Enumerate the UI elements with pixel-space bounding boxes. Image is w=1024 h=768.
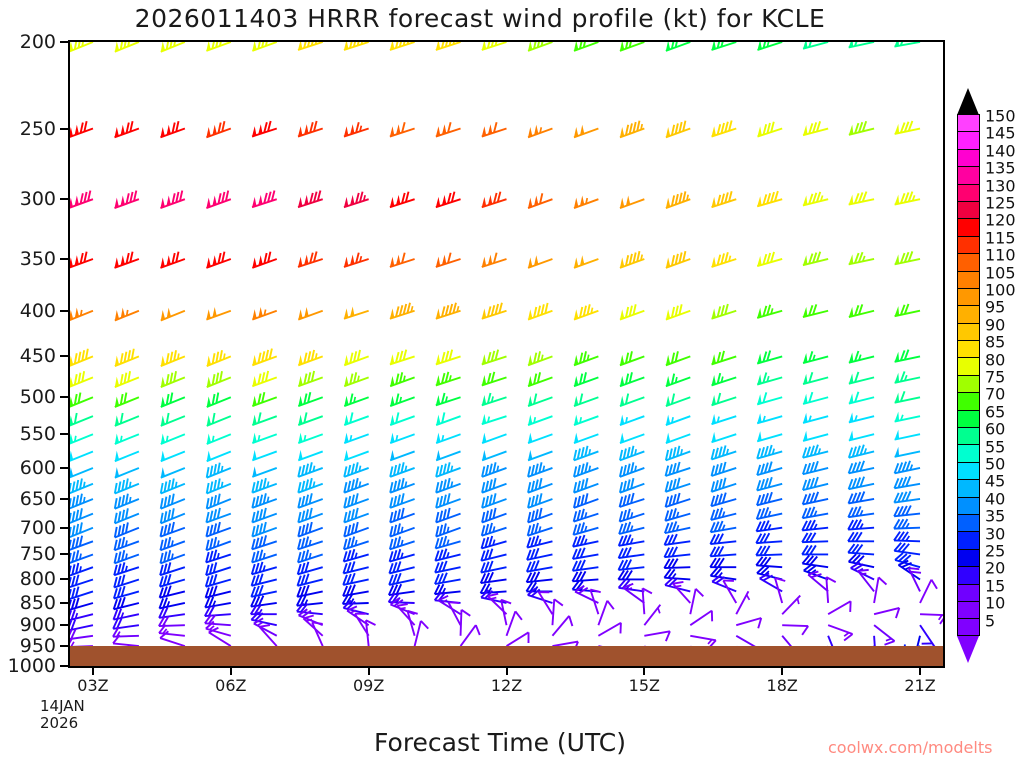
wind-barb [849,412,874,422]
wind-barb [782,596,800,615]
wind-barb [848,544,874,554]
wind-barb [528,394,552,407]
wind-barb [206,562,231,575]
wind-barb [666,415,690,425]
wind-barb [298,371,322,386]
wind-barb [673,582,690,603]
wind-barb [114,121,138,137]
wind-barb [70,308,93,321]
wind-barb [298,493,322,508]
wind-barb [70,598,93,610]
wind-barb [251,596,277,607]
wind-barb [298,508,322,523]
colorbar-tick-label: 140 [985,141,1016,160]
wind-barb [390,253,415,267]
wind-barb [70,629,93,639]
wind-barb [803,461,828,474]
wind-barb [572,571,598,581]
wind-barb [161,42,185,52]
wind-barb [114,586,139,598]
pressure-tick-label: 400 [20,300,56,322]
wind-barb [894,532,920,542]
wind-barb [252,307,276,320]
wind-barb [252,574,277,586]
wind-barb [252,349,276,366]
wind-barb [390,394,414,407]
wind-barb [598,601,613,625]
wind-barb [252,493,276,508]
wind-profile-plot [68,40,945,668]
wind-barb [252,371,276,386]
wind-barb [803,413,828,423]
wind-barb [436,433,460,443]
colorbar-tick-label: 20 [985,559,1005,578]
wind-barb [251,585,276,597]
wind-barb [390,372,414,386]
wind-barb [160,550,184,563]
wind-barb [161,494,185,509]
colorbar-cell [957,218,980,235]
colorbar-tick-label: 90 [985,315,1005,334]
wind-barb [461,625,480,646]
wind-barb [415,621,429,646]
wind-barb [849,445,874,458]
wind-barb [482,450,506,460]
wind-barb [620,304,644,319]
wind-barb [618,559,644,569]
wind-barb [251,605,277,614]
wind-barb [70,563,93,576]
wind-barb [344,478,368,493]
wind-barb [70,587,93,600]
wind-barb [757,507,782,519]
wind-barb [849,121,874,135]
wind-barb [803,192,828,206]
wind-barb [70,575,93,588]
wind-barb [390,433,414,443]
wind-barb [482,253,507,267]
wind-barb [114,575,139,588]
wind-barb [894,519,920,528]
colorbar-cell [957,427,980,444]
wind-barb [114,252,138,268]
wind-barb [528,523,553,536]
wind-barb [552,616,572,636]
wind-barb [528,303,552,320]
wind-barb [461,610,471,636]
wind-barb [298,450,322,460]
wind-barb [507,632,529,646]
wind-barb [528,478,552,493]
wind-barb [252,121,277,137]
wind-barb [344,493,368,508]
wind-barb [848,492,874,504]
wind-barb [114,550,138,563]
wind-barb [482,393,507,405]
pressure-tick-label: 850 [20,592,56,614]
time-tick-label: 12Z [491,676,522,695]
pressure-tick-label: 200 [20,31,56,53]
wind-barb [802,520,828,530]
wind-barb [666,493,691,507]
colorbar-tick-label: 150 [985,107,1016,126]
wind-barb [710,534,736,544]
colorbar-cell [957,288,980,305]
pressure-tick-mark [60,433,68,435]
wind-barb [482,414,507,424]
wind-barb [70,413,93,426]
wind-barb [390,523,414,536]
wind-barb [298,412,322,425]
time-tick-label: 09Z [353,676,384,695]
wind-barb [115,371,139,387]
wind-barb [435,549,460,561]
wind-barb [574,125,598,138]
wind-barb [206,537,230,550]
wind-barb [849,304,874,317]
wind-barb [159,598,184,609]
colorbar-cell [957,479,980,496]
wind-barb [895,304,920,316]
wind-barb [115,349,139,366]
wind-barb [436,303,461,319]
wind-barb [207,371,231,387]
pressure-tick-label: 750 [20,543,56,565]
wind-barb [711,493,736,507]
wind-barb [70,433,93,444]
wind-barb [482,508,506,523]
wind-barb [803,252,828,266]
pressure-tick-mark [60,498,68,500]
wind-barb [712,478,737,492]
wind-barb [252,478,276,493]
wind-barb [712,252,737,267]
wind-barb [620,509,645,522]
wind-barb [159,617,185,626]
wind-barb [436,253,461,267]
wind-barb [206,550,231,563]
wind-barb [390,122,415,136]
wind-barb [849,192,874,205]
wind-barb [527,536,552,548]
wind-barb [160,574,185,586]
wind-barb [70,508,93,523]
colorbar-cell [957,114,980,131]
wind-barb [114,562,139,575]
wind-barb [712,462,737,476]
wind-barb [849,392,874,404]
wind-barb [160,191,184,209]
wind-barb [390,549,415,561]
wind-barb [344,450,368,460]
wind-barb [712,121,737,137]
wind-barb [690,611,712,626]
wind-barb [619,522,644,534]
wind-barb [206,508,230,523]
pressure-tick-mark [60,467,68,469]
wind-barb [665,534,691,545]
colorbar-cell [957,497,980,514]
wind-barb [874,625,894,645]
wind-barb [205,597,231,608]
wind-barb [297,585,322,597]
colorbar-cell [957,131,980,148]
wind-barb [161,467,185,478]
colorbar-tick-label: 25 [985,542,1005,561]
wind-barb [390,508,414,523]
wind-barb [435,561,460,573]
wind-barb [620,462,644,477]
pressure-tick-mark [60,624,68,626]
wind-barb [507,611,522,635]
wind-barb [436,493,460,508]
wind-barb [397,604,414,625]
wind-barb [848,532,874,541]
wind-barb [620,121,644,138]
pressure-tick-label: 950 [20,635,56,657]
wind-barb [344,306,369,318]
wind-barb [160,522,184,537]
wind-barb [895,461,920,474]
wind-barb [920,580,937,603]
wind-barb [757,462,782,476]
wind-barb [574,195,598,208]
wind-barb [343,585,369,596]
wind-barb [574,462,598,477]
wind-barb [710,546,736,556]
wind-barb [70,536,93,551]
wind-barb [528,415,552,425]
wind-barb [528,450,552,460]
wind-barb [664,569,690,579]
wind-barb [802,545,828,554]
wind-barb [528,433,552,443]
wind-barb [436,536,461,548]
wind-barb [298,392,322,406]
wind-barb [252,392,276,406]
colorbar-cell [957,271,980,288]
wind-barb [782,625,808,635]
wind-barb [436,508,460,523]
wind-barb [895,121,920,134]
wind-barb [552,599,562,625]
wind-barb [664,547,690,557]
wind-barb [161,433,185,444]
wind-barb [298,42,323,50]
wind-barb [528,372,552,386]
wind-barb [115,433,139,444]
wind-barb [252,466,276,476]
wind-barb [665,521,690,533]
wind-barb [209,628,231,646]
wind-barb [390,493,414,508]
time-tick-mark [781,668,783,675]
colorbar-cell [957,375,980,392]
colorbar-tick-label: 145 [985,124,1016,143]
colorbar-tick-label: 130 [985,176,1016,195]
wind-barb [482,536,507,548]
wind-barb [757,42,782,50]
colorbar-cell [957,444,980,461]
wind-barb [207,350,231,366]
pressure-tick-mark [60,355,68,357]
wind-barb [574,493,598,508]
colorbar-under-arrow-icon [957,636,979,663]
wind-barb [620,42,644,51]
colorbar-cell [957,462,980,479]
wind-barb [598,623,621,636]
wind-barb [252,252,276,268]
wind-barb [644,605,660,625]
wind-barb [207,463,231,478]
wind-barb [711,508,736,520]
time-tick-mark [506,668,508,675]
wind-barb [711,521,737,532]
colorbar-cell [957,584,980,601]
wind-barb [344,537,369,550]
wind-barb [160,537,184,550]
wind-barb [115,508,139,523]
wind-barb [252,508,276,523]
colorbar-tick-label: 45 [985,472,1005,491]
wind-barb [160,252,184,268]
colorbar-tick-label: 135 [985,159,1016,178]
wind-barb [644,631,670,641]
wind-barb [895,391,920,402]
wind-barb [343,573,368,585]
wind-barb [920,625,935,647]
wind-barb [710,558,736,567]
wind-barb [712,393,737,405]
colorbar-tick-label: 70 [985,385,1005,404]
wind-barb [297,596,323,606]
wind-barb [344,462,368,477]
wind-barb [70,191,93,209]
wind-barb [481,572,507,583]
wind-barb [736,591,749,614]
wind-barb [481,549,506,561]
wind-barb [620,446,644,461]
wind-barb [802,533,828,543]
wind-barb [849,461,874,474]
wind-barb [436,393,461,405]
colorbar-tick-label: 100 [985,281,1016,300]
wind-barb [70,42,93,52]
wind-barb [574,255,598,268]
pressure-tick-label: 650 [20,488,56,510]
wind-barb [826,577,835,603]
colorbar-tick-label: 50 [985,455,1005,474]
wind-barb [206,42,230,51]
wind-barb [620,394,644,407]
colorbar-tick-label: 55 [985,437,1005,456]
wind-barb [344,372,368,386]
wind-barb [161,508,185,523]
wind-barb [344,192,369,208]
time-tick-mark [92,668,94,675]
wind-barb [436,122,461,136]
colorbar-tick-label: 120 [985,211,1016,230]
wind-barb [620,493,645,507]
wind-barb [757,373,782,385]
wind-barb [723,580,736,603]
wind-barb [894,42,920,47]
wind-barb [574,42,598,51]
wind-barb [344,394,368,407]
wind-barb [482,478,506,493]
colorbar-cell [957,618,980,635]
wind-barb [757,477,782,490]
wind-barb [895,350,920,362]
wind-speed-colorbar: 1501451401351301251201151101051009590858… [957,88,1024,658]
wind-barb [436,42,461,50]
colorbar-cell [957,566,980,583]
pressure-tick-mark [60,665,68,667]
wind-barb [115,479,139,494]
wind-barb [482,493,506,508]
wind-barb [482,372,507,386]
colorbar-cell [957,340,980,357]
wind-barb [803,392,828,404]
wind-barb [712,191,737,207]
wind-barb [756,520,782,531]
colorbar-cell [957,410,980,427]
wind-barb [920,614,943,624]
wind-barb [161,479,185,494]
wind-barb [828,601,851,614]
colorbar-cell [957,392,980,409]
colorbar-tick-label: 110 [985,246,1016,265]
wind-barb [115,413,139,426]
wind-barb [736,618,761,628]
wind-barb [344,350,368,365]
wind-barb [70,252,93,268]
wind-barb [161,371,185,387]
wind-barb [207,393,231,407]
colorbar-cell [957,184,980,201]
wind-barb [803,492,828,505]
wind-barb [849,430,874,440]
wind-barb [160,586,185,598]
wind-barb [115,42,139,52]
wind-barb [70,494,93,509]
wind-barb [298,433,322,443]
wind-barb [620,478,644,493]
wind-barb [874,608,899,618]
colorbar-tick-label: 35 [985,507,1005,526]
wind-barb [160,121,184,137]
wind-barb [298,537,323,550]
wind-barb [343,595,369,604]
wind-barb [803,304,828,317]
wind-barb [435,573,461,584]
pressure-tick-mark [60,198,68,200]
wind-barb [619,580,645,592]
wind-barb [574,351,598,365]
wind-barb [849,477,874,490]
colorbar-tick-label: 5 [985,611,995,630]
wind-barb [482,42,507,50]
wind-barb [390,192,415,208]
wind-barb [389,573,414,585]
wind-barb [70,393,93,407]
wind-barb [666,42,690,51]
colorbar-tick-label: 15 [985,576,1005,595]
colorbar-tick-label: 125 [985,194,1016,213]
wind-barb [159,608,185,618]
wind-barb [848,506,874,517]
wind-barb [70,121,93,137]
